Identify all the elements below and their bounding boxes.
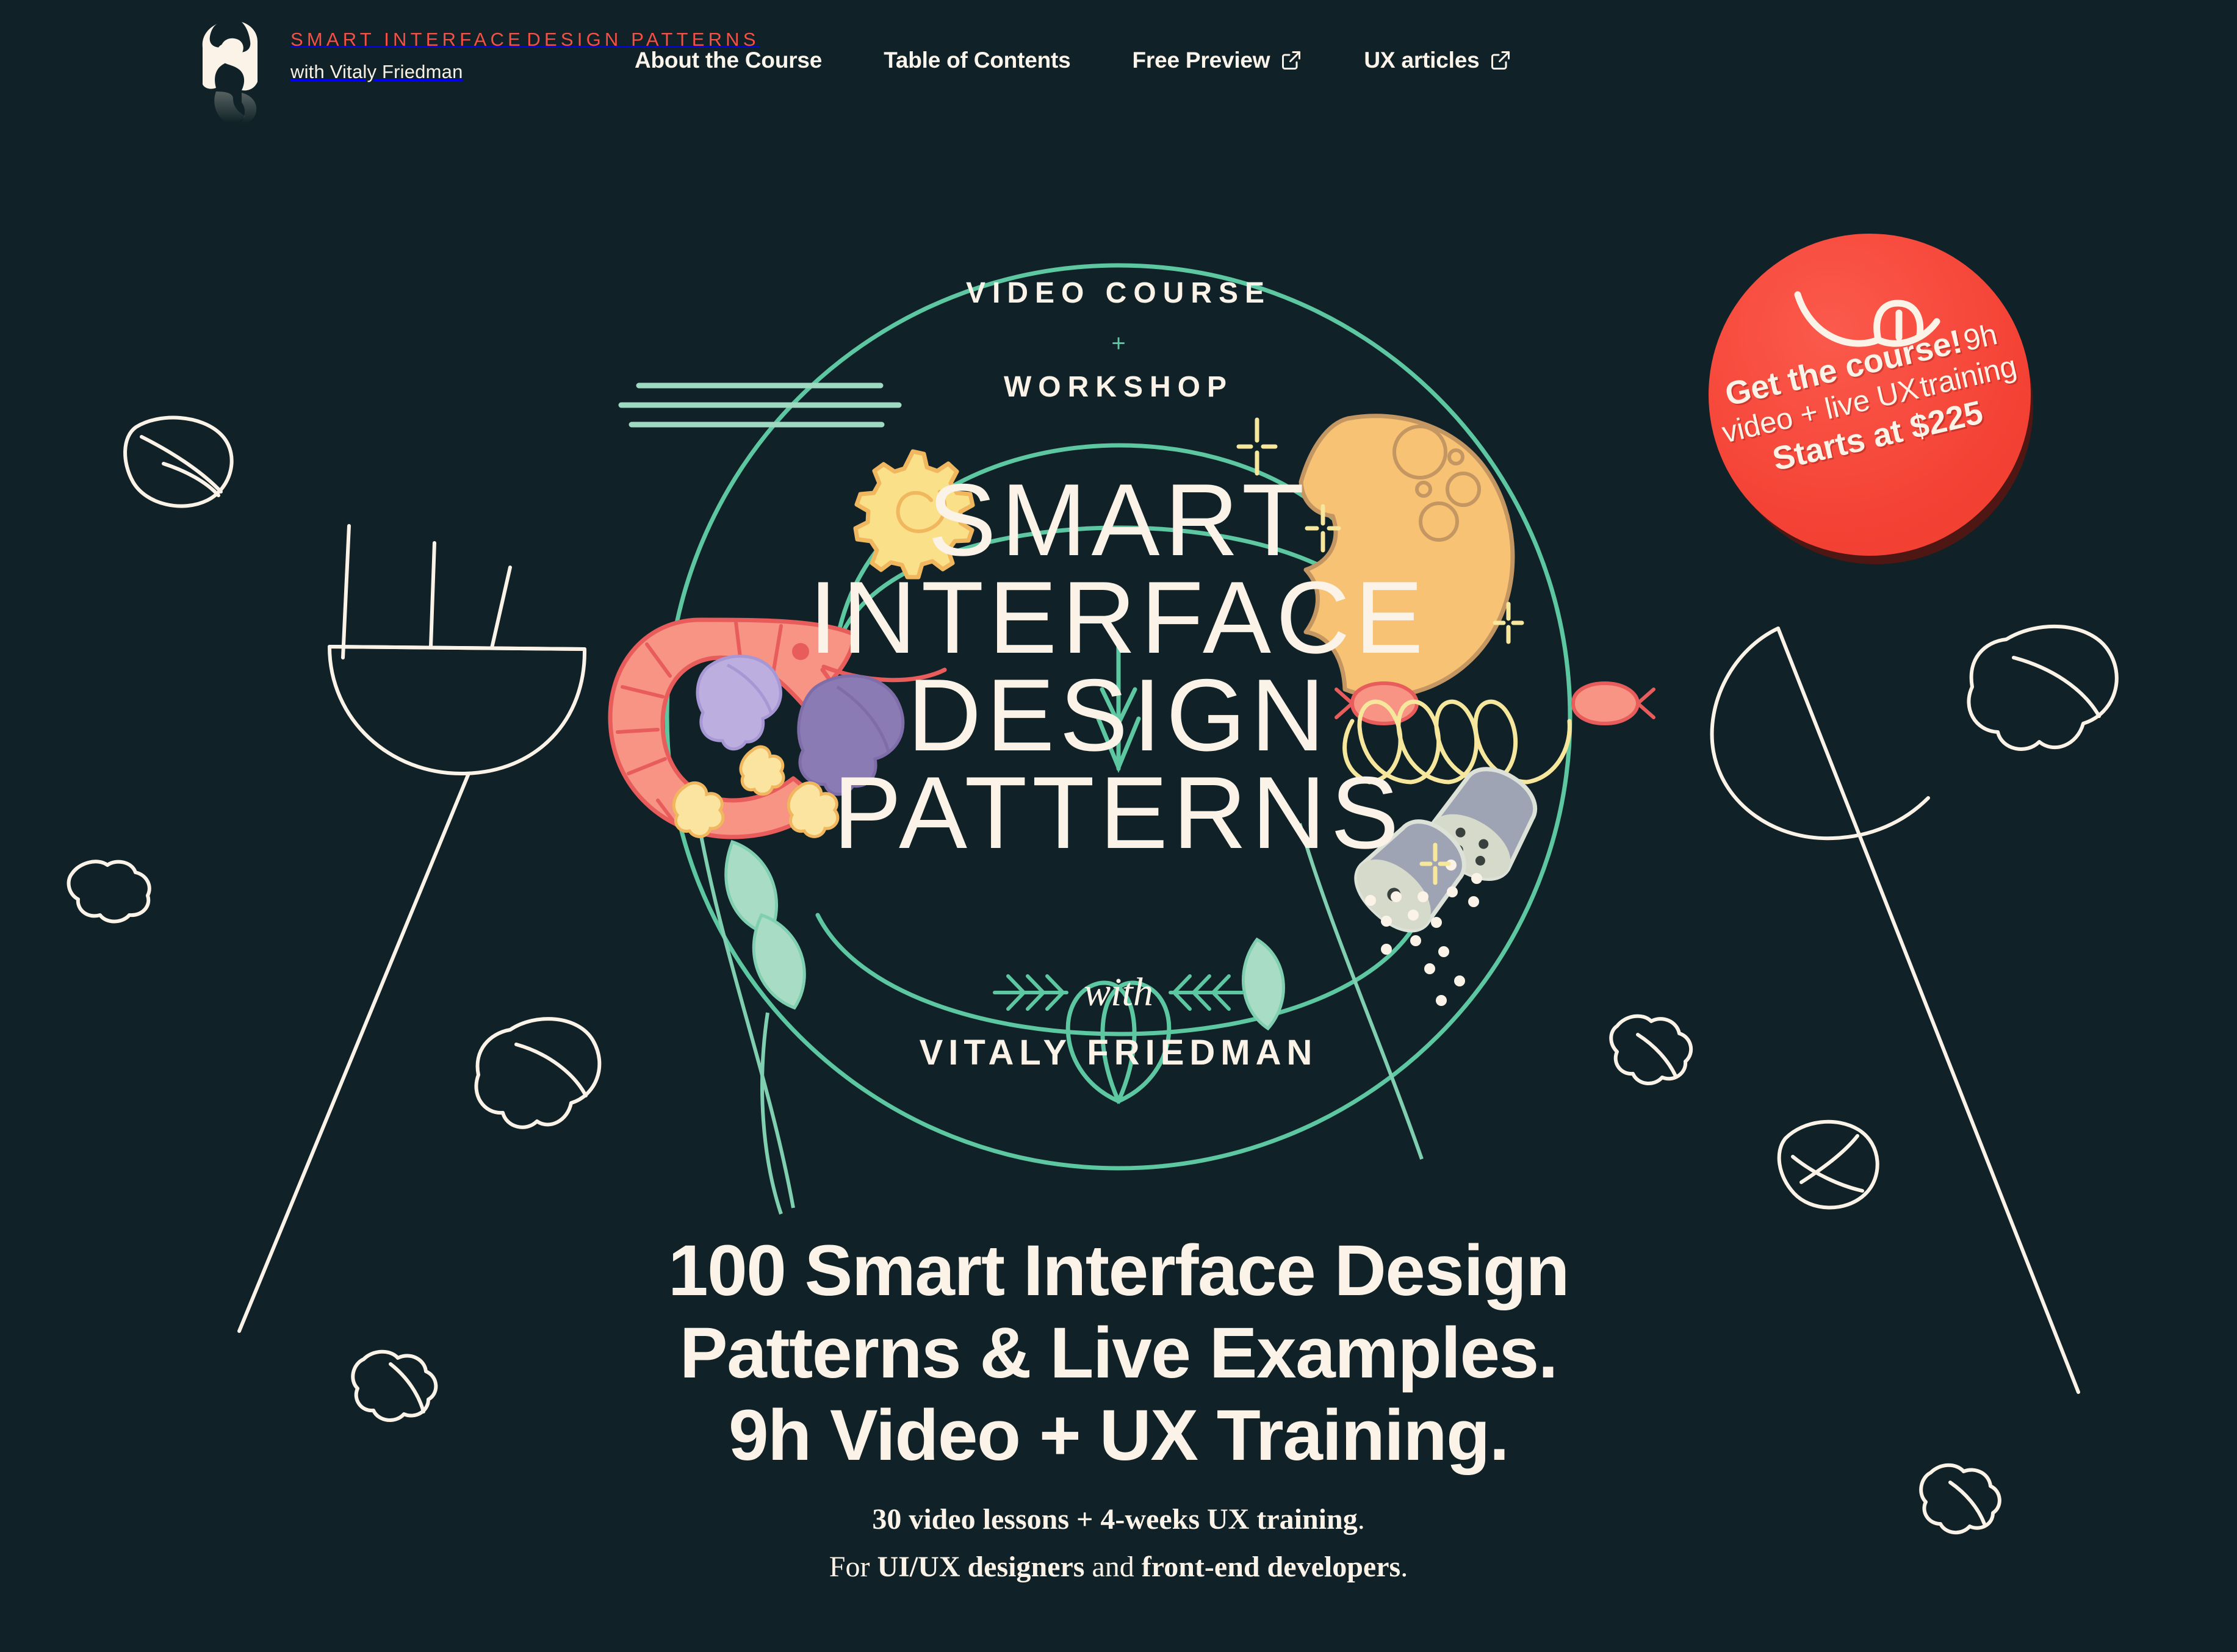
subheadline-text-and: and xyxy=(1084,1551,1141,1583)
gear-illustration xyxy=(856,451,973,577)
nav-label: Free Preview xyxy=(1132,48,1270,73)
headline-line-3: 9h Video + UX Training. xyxy=(729,1395,1508,1476)
nav-item-ux-articles[interactable]: UX articles xyxy=(1364,48,1511,73)
subheadline-strong-3: front-end developers xyxy=(1142,1551,1400,1583)
cheese-moon-illustration xyxy=(1301,416,1513,697)
subheadline-strong-2: UI/UX designers xyxy=(877,1551,1084,1583)
site-header: SMART INTERFACE DESIGN PATTERNS with Vit… xyxy=(0,0,2237,153)
mint-stems xyxy=(696,805,1422,1214)
nav-item-table-of-contents[interactable]: Table of Contents xyxy=(884,48,1070,73)
with-ornaments xyxy=(995,976,1242,1009)
fish-loop-illustration xyxy=(1336,683,1654,782)
mushroom-dark-illustration xyxy=(799,676,903,794)
headline-line-2: Patterns & Live Examples. xyxy=(680,1313,1557,1393)
nav-item-free-preview[interactable]: Free Preview xyxy=(1132,48,1302,73)
nav-label: About the Course xyxy=(635,48,822,73)
nav-label: UX articles xyxy=(1364,48,1479,73)
page-headline: 100 Smart Interface Design Patterns & Li… xyxy=(0,1230,2237,1477)
arc-bottom-inner xyxy=(818,915,1421,1034)
brand-title-line-1: SMART INTERFACE xyxy=(290,29,524,50)
external-link-icon xyxy=(1280,49,1302,71)
speed-lines xyxy=(621,386,899,425)
subheadline-period-2: . xyxy=(1400,1551,1408,1583)
main-navigation: About the Course Table of Contents Free … xyxy=(635,48,1511,73)
nav-item-about-the-course[interactable]: About the Course xyxy=(635,48,822,73)
subheadline-strong-1: 30 video lessons + 4-weeks UX training xyxy=(872,1503,1357,1535)
mushroom-light-illustration xyxy=(697,656,780,749)
subheadline-text-for: For xyxy=(829,1551,877,1583)
brand-title-line-2: DESIGN PATTERNS xyxy=(527,29,759,50)
nav-label: Table of Contents xyxy=(884,48,1070,73)
page-subheadline: 30 video lessons + 4-weeks UX training. … xyxy=(0,1496,2237,1591)
subheadline-period-1: . xyxy=(1358,1503,1365,1535)
external-link-icon xyxy=(1490,49,1511,71)
headline-line-1: 100 Smart Interface Design xyxy=(668,1230,1569,1311)
get-the-course-badge-wrapper: Get the course! 9h video + live UX train… xyxy=(1709,234,2038,563)
landing-page: VIDEO COURSE + WORKSHOP SMART INTERFACE … xyxy=(0,0,2237,1652)
get-the-course-badge[interactable]: Get the course! 9h video + live UX train… xyxy=(1709,234,2031,556)
smashing-cat-logo-icon xyxy=(194,18,266,125)
hero-illustration xyxy=(0,0,2237,1257)
